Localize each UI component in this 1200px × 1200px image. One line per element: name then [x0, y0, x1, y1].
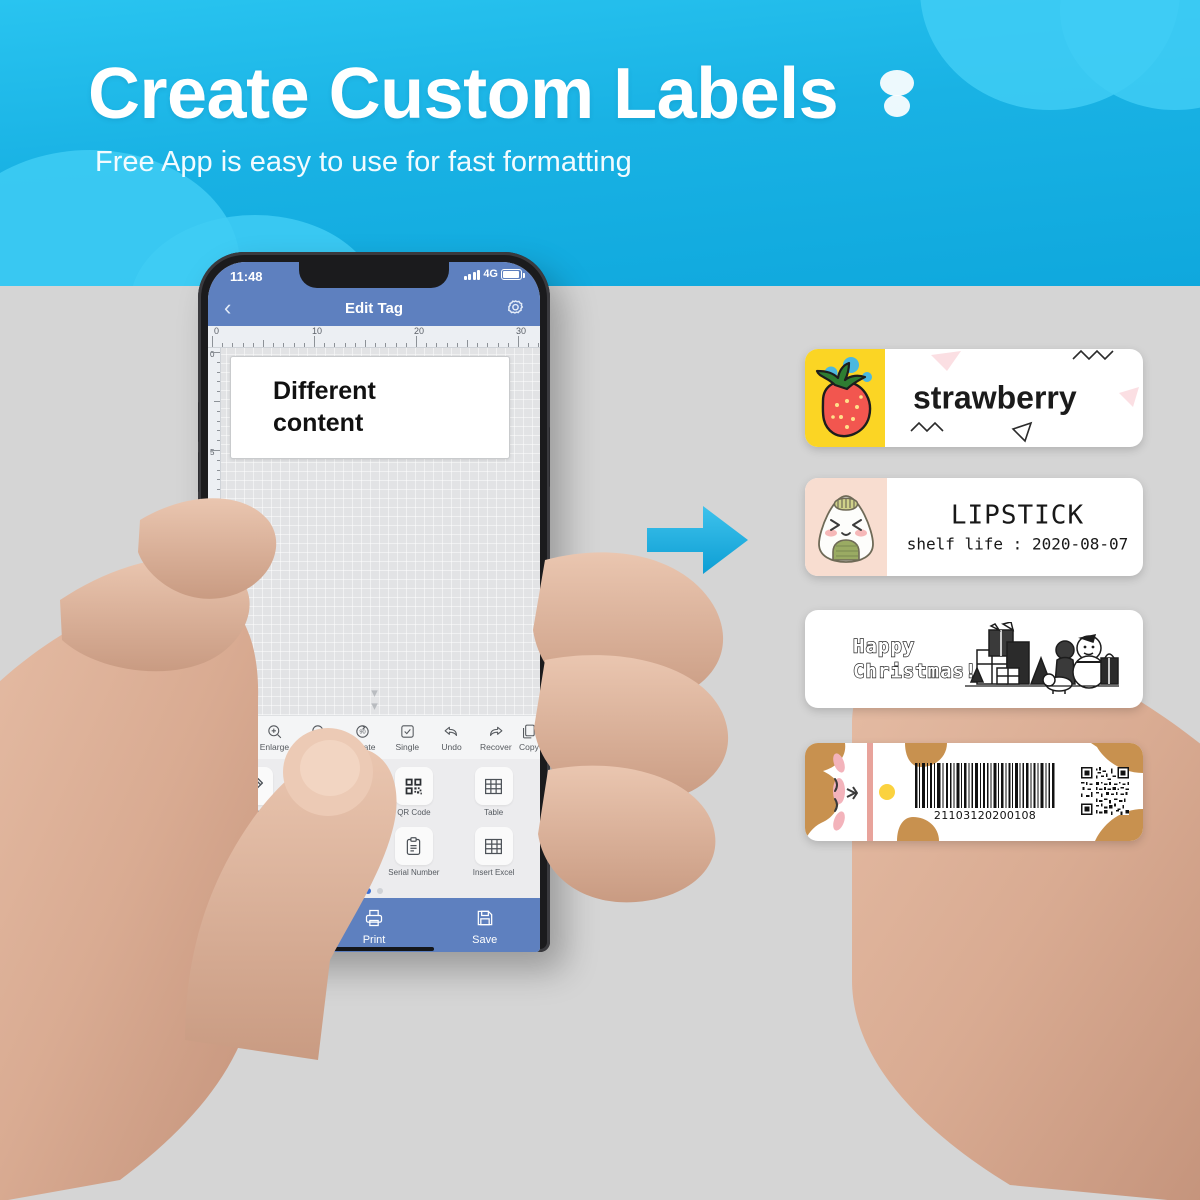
vruler-tick [217, 519, 220, 520]
grid-label: Scan [245, 868, 263, 877]
ruler-tick [375, 343, 376, 347]
page-title: Create Custom Labels [88, 58, 838, 130]
phone-screen: 11:48 4G ‹ Edit Tag [208, 262, 540, 952]
grid-label: QR Code [397, 808, 430, 817]
page-dot-active[interactable] [365, 888, 371, 894]
grid-item-qrcode[interactable]: QR Code [376, 765, 453, 822]
ruler-tick [283, 343, 284, 347]
excel-table-icon [475, 827, 513, 865]
vruler-tick [217, 470, 220, 471]
clipboard-icon [395, 827, 433, 865]
vruler-tick [217, 411, 220, 412]
vruler-tick [217, 607, 220, 608]
label-card-strawberry[interactable]: strawberry [805, 349, 1143, 447]
tool-recover[interactable]: Recover [474, 716, 518, 759]
vruler-tick [217, 685, 220, 686]
ruler-tick [232, 343, 233, 347]
nav-title: Edit Tag [208, 300, 540, 317]
strawberry-illustration [805, 349, 885, 447]
home-indicator [314, 947, 434, 951]
ruler-tick [304, 343, 305, 347]
svg-text:90: 90 [360, 730, 366, 736]
page-dot[interactable] [377, 888, 383, 894]
vruler-tick [211, 646, 220, 647]
ruler-tick [538, 343, 539, 347]
ruler-tick [498, 343, 499, 347]
tool-rotate[interactable]: 90 Rotate [341, 716, 385, 759]
tool-undo[interactable]: Undo [429, 716, 473, 759]
vruler-tick [217, 381, 220, 382]
right-arrow-icon [645, 500, 750, 585]
signal-bars-icon [464, 269, 481, 280]
insert-elements-grid: Text Barcode QR Code Table [208, 759, 540, 884]
grid-item-scan[interactable]: Scan [216, 825, 293, 882]
ruler-tick [365, 340, 366, 347]
printer-icon [364, 908, 384, 931]
smartphone-device: 11:48 4G ‹ Edit Tag [198, 252, 550, 952]
lipstick-title: LIPSTICK [900, 501, 1135, 531]
vruler-tick [217, 362, 220, 363]
ruler-tick [355, 343, 356, 347]
lipstick-shelf-life: shelf life : 2020-08-07 [900, 535, 1135, 554]
redo-arrow-icon [487, 723, 504, 740]
horizontal-ruler: 0 10 20 30 [208, 326, 540, 348]
label-text-line2: content [273, 407, 376, 439]
label-text-line1: Different [273, 375, 376, 407]
pencil-icon [235, 767, 273, 805]
lipstick-label-body: LIPSTICK shelf life : 2020-08-07 [900, 501, 1135, 554]
ruler-tick [518, 336, 519, 347]
vruler-tick [217, 440, 220, 441]
battery-icon [501, 269, 522, 280]
zoom-in-icon [266, 723, 283, 740]
vruler-tick [217, 656, 220, 657]
rotate-icon: 90 [354, 723, 371, 740]
tool-label: Enlarge [260, 742, 289, 752]
bottom-label: Save [472, 934, 497, 946]
vruler-tick [217, 479, 220, 480]
grid-label: Insert Excel [473, 868, 515, 877]
ruler-tick [334, 343, 335, 347]
label-canvas[interactable]: 0 5 Different content ▾▾ [208, 348, 540, 715]
label-card-barcode[interactable]: 21103120200108 [805, 743, 1143, 841]
barcode-icon [315, 767, 353, 805]
cloud-shape-white [884, 95, 910, 117]
vruler-tick [217, 460, 220, 461]
ruler-tick [467, 340, 468, 347]
header-banner: Create Custom Labels Free App is easy to… [0, 0, 1200, 286]
volume-button[interactable] [198, 452, 199, 492]
ruler-tick [243, 343, 244, 347]
tool-label: Rotate [350, 742, 375, 752]
scan-frame-icon [235, 827, 273, 865]
ruler-tick [385, 343, 386, 347]
ruler-tick-label: 0 [214, 326, 219, 336]
christmas-scene-illustration [961, 622, 1121, 696]
ruler-tick [396, 343, 397, 347]
label-card-christmas[interactable]: Happy Christmas! [805, 610, 1143, 708]
ruler-tick [263, 340, 264, 347]
ruler-tick [528, 343, 529, 347]
tool-label: Shrink [307, 742, 331, 752]
copy-icon [520, 723, 537, 740]
onigiri-character-illustration [805, 478, 887, 576]
ruler-tick-label: 30 [516, 326, 526, 336]
qr-code-icon [1081, 767, 1129, 815]
ruler-tick-label: 20 [414, 326, 424, 336]
label-preview-box[interactable]: Different content [230, 356, 510, 459]
ruler-tick [294, 343, 295, 347]
vruler-tick [217, 538, 220, 539]
vruler-tick [211, 450, 220, 451]
vruler-tick [214, 401, 220, 402]
power-button[interactable] [549, 427, 550, 487]
preview-icon [253, 908, 273, 931]
ruler-tick [406, 343, 407, 347]
strawberry-label-text: strawberry [913, 380, 1077, 417]
page-indicator [208, 884, 540, 898]
barcode-number: 21103120200108 [915, 809, 1055, 822]
ruler-tick [253, 343, 254, 347]
vruler-tick [214, 695, 220, 696]
qr-code-icon [395, 767, 433, 805]
barcode-icon [915, 763, 1055, 808]
vruler-tick [214, 597, 220, 598]
grid-item-barcode[interactable]: Barcode [296, 765, 373, 822]
vruler-tick [217, 372, 220, 373]
vruler-tick [217, 391, 220, 392]
ruler-tick [324, 343, 325, 347]
chevron-double-down-icon[interactable]: ▾▾ [371, 686, 377, 712]
zoom-out-icon [310, 723, 327, 740]
bottom-label: Print [363, 934, 386, 946]
strawberry-art-panel [805, 349, 885, 447]
grid-item-serial-number[interactable]: Serial Number [376, 825, 453, 882]
vruler-tick [217, 617, 220, 618]
label-card-lipstick[interactable]: LIPSTICK shelf life : 2020-08-07 [805, 478, 1143, 576]
vruler-tick [217, 626, 220, 627]
vruler-tick [217, 675, 220, 676]
ruler-tick [508, 343, 509, 347]
cloud-shape-white [880, 70, 914, 96]
tool-label: Undo [441, 742, 461, 752]
ruler-tick-label: 10 [312, 326, 322, 336]
christmas-line2: Christmas! [853, 659, 977, 684]
ruler-tick [447, 343, 448, 347]
edit-toolbar: Delete Enlarge Shrink 90 Rotate [208, 715, 540, 759]
vruler-tick [211, 352, 220, 353]
vertical-ruler: 0 5 [208, 348, 221, 715]
tool-label: Recover [480, 742, 512, 752]
tool-single[interactable]: Single [385, 716, 429, 759]
status-indicators: 4G [464, 268, 522, 280]
grid-label: Barcode [319, 808, 349, 817]
volume-button[interactable] [198, 402, 199, 442]
checkbox-icon [399, 723, 416, 740]
network-type-label: 4G [483, 268, 498, 280]
christmas-greeting-text: Happy Christmas! [853, 634, 977, 683]
tool-delete[interactable]: Delete [208, 716, 252, 759]
trash-icon [222, 723, 239, 740]
vruler-tick [214, 499, 220, 500]
page-subtitle: Free App is easy to use for fast formatt… [95, 146, 632, 179]
vruler-tick [217, 568, 220, 569]
label-text-element[interactable]: Different content [273, 375, 376, 439]
vruler-tick [217, 489, 220, 490]
vruler-tick [217, 666, 220, 667]
christmas-line1: Happy [853, 634, 977, 659]
vruler-tick [217, 421, 220, 422]
vruler-tick [217, 558, 220, 559]
ruler-tick [222, 343, 223, 347]
vruler-tick [217, 587, 220, 588]
phone-notch [299, 262, 449, 288]
grid-item-table[interactable]: Table [455, 765, 532, 822]
ruler-tick [477, 343, 478, 347]
vruler-tick [217, 577, 220, 578]
bottom-label: View [252, 934, 276, 946]
vruler-tick [217, 705, 220, 706]
onigiri-art-panel [805, 478, 887, 576]
view-button[interactable]: View [208, 898, 319, 952]
vruler-tick [217, 430, 220, 431]
vruler-tick [217, 509, 220, 510]
ruler-tick [273, 343, 274, 347]
undo-arrow-icon [443, 723, 460, 740]
table-icon [475, 767, 513, 805]
tool-copy[interactable]: Copy [518, 716, 540, 759]
tool-enlarge[interactable]: Enlarge [252, 716, 296, 759]
vruler-tick [217, 636, 220, 637]
floppy-disk-icon [475, 908, 495, 931]
tool-shrink[interactable]: Shrink [297, 716, 341, 759]
grid-item-insert-excel[interactable]: Insert Excel [455, 825, 532, 882]
ruler-tick [436, 343, 437, 347]
save-button[interactable]: Save [429, 898, 540, 952]
ruler-tick [212, 336, 213, 347]
tool-label: Copy [519, 742, 539, 752]
app-nav-bar: ‹ Edit Tag [208, 292, 540, 326]
grid-item-text[interactable]: Text [216, 765, 293, 822]
grid-label: Text [247, 808, 262, 817]
tool-label: Single [395, 742, 419, 752]
grid-label: Table [484, 808, 503, 817]
gear-icon[interactable] [505, 298, 526, 319]
bottom-action-bar: View Print Save [208, 898, 540, 952]
grid-label: Serial Number [388, 868, 439, 877]
ruler-tick [416, 336, 417, 347]
vruler-tick [217, 528, 220, 529]
ruler-tick [457, 343, 458, 347]
ruler-tick [314, 336, 315, 347]
print-button[interactable]: Print [319, 898, 430, 952]
vruler-tick [211, 548, 220, 549]
tool-label: Delete [218, 742, 243, 752]
ruler-tick [426, 343, 427, 347]
ruler-tick [345, 343, 346, 347]
status-time: 11:48 [230, 269, 263, 284]
ruler-tick [487, 343, 488, 347]
